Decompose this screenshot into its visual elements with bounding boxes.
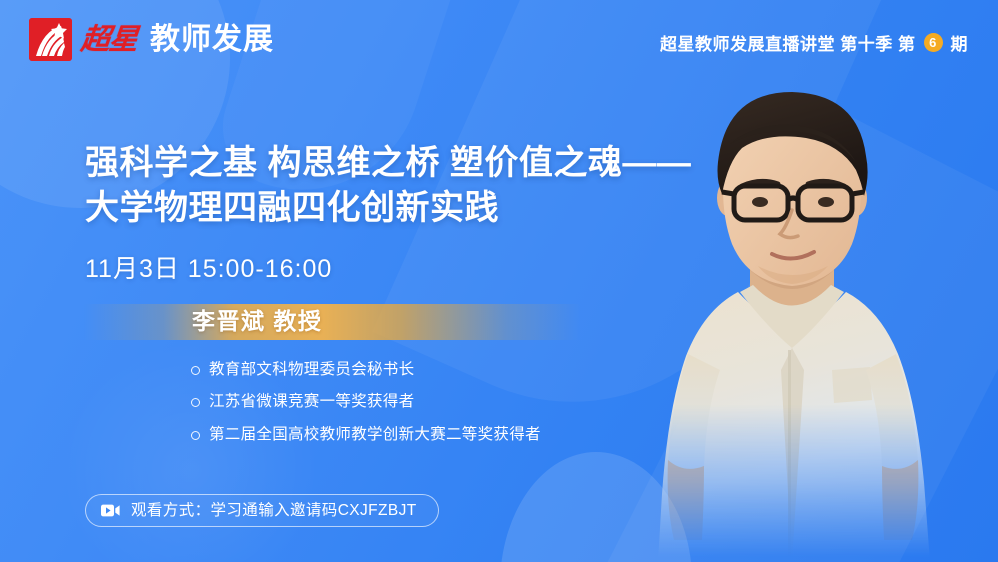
speaker-banner: 李晋斌 教授 xyxy=(84,304,581,340)
title-line-1: 强科学之基 构思维之桥 塑价值之魂—— xyxy=(85,141,745,186)
watch-method-pill[interactable]: 观看方式：学习通输入邀请码CXJFZBJT xyxy=(85,494,439,527)
series-number-badge: 6 xyxy=(924,33,943,52)
brand-lockup: 超星 教师发展 xyxy=(29,18,274,61)
title-line-2: 大学物理四融四化创新实践 xyxy=(85,186,745,231)
list-item: 教育部文科物理委员会秘书长 xyxy=(190,362,745,378)
speaker-name: 李晋斌 教授 xyxy=(192,310,322,333)
video-camera-icon xyxy=(101,504,120,517)
series-label: 超星教师发展直播讲堂 第十季 第6期 xyxy=(660,30,968,55)
session-datetime: 11月3日 15:00-16:00 xyxy=(85,257,745,282)
watch-method-text: 观看方式：学习通输入邀请码CXJFZBJT xyxy=(131,503,417,519)
list-item: 江苏省微课竞赛一等奖获得者 xyxy=(190,394,745,410)
chaoxing-star-logo-icon xyxy=(29,18,72,61)
page-title: 强科学之基 构思维之桥 塑价值之魂—— 大学物理四融四化创新实践 xyxy=(85,141,745,231)
series-prefix: 超星教师发展直播讲堂 第十季 第 xyxy=(660,30,915,55)
poster-content: 强科学之基 构思维之桥 塑价值之魂—— 大学物理四融四化创新实践 11月3日 1… xyxy=(85,118,745,459)
webinar-poster: 超星 教师发展 超星教师发展直播讲堂 第十季 第6期 强科学之基 构思维之桥 塑… xyxy=(0,0,998,562)
series-suffix: 期 xyxy=(951,30,969,55)
brand-name: 教师发展 xyxy=(150,25,274,55)
poster-header: 超星 教师发展 超星教师发展直播讲堂 第十季 第6期 xyxy=(0,0,998,78)
brand-logo-text: 超星 xyxy=(79,25,138,54)
list-item: 第二届全国高校教师教学创新大赛二等奖获得者 xyxy=(190,427,745,443)
speaker-credentials-list: 教育部文科物理委员会秘书长 江苏省微课竞赛一等奖获得者 第二届全国高校教师教学创… xyxy=(190,362,745,443)
